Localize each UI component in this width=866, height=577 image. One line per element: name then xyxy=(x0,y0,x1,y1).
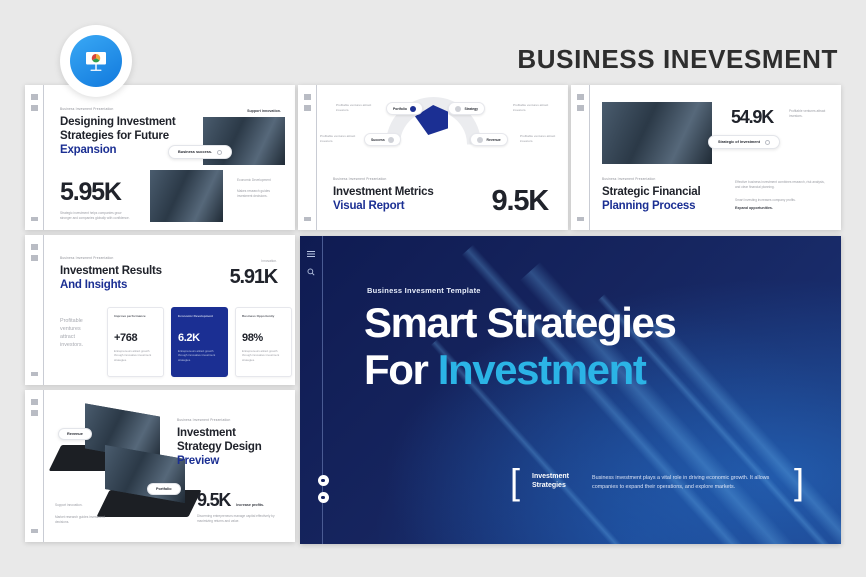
arc-node-strategy[interactable]: Strategy xyxy=(448,102,485,115)
stat-card-desc: Entrepreneurs attract growth through inn… xyxy=(178,349,221,362)
rail-icon-bottom xyxy=(31,217,38,221)
slide-eyebrow: Business Invesment Presentation xyxy=(333,177,434,181)
slide-title-highlight: Expansion xyxy=(60,143,176,157)
rail-icon-top xyxy=(577,94,584,100)
slide-side-desc: Makes research guides investment decisio… xyxy=(237,189,283,199)
stat-card-value: 6.2K xyxy=(178,332,221,344)
search-icon[interactable] xyxy=(307,268,315,278)
stat-card-desc: Entrepreneurs attract growth through inn… xyxy=(114,349,157,362)
slide-badge-strategic-investment[interactable]: Strategic of Investment xyxy=(708,135,780,149)
slide-left-rail xyxy=(25,235,44,385)
rail-icon-top xyxy=(31,399,38,405)
rail-icon-second xyxy=(31,255,38,261)
slide-thumbnail-4[interactable]: Business Invesment Presentation Investme… xyxy=(25,235,295,385)
arc-node-revenue[interactable]: Revenue xyxy=(470,133,508,146)
slide-left-rail xyxy=(25,390,44,542)
rail-icon-second xyxy=(31,410,38,416)
rail-icon-bottom xyxy=(31,529,38,533)
rail-icon-bottom xyxy=(577,217,584,221)
hero-title-accent: Investment xyxy=(438,346,646,393)
slide-stat-value: 5.91K xyxy=(230,266,277,289)
stat-card-label: Economic Development xyxy=(178,314,221,319)
badge-dot-icon xyxy=(217,150,222,155)
slide-stat-value: 5.95K xyxy=(60,178,132,207)
arc-node-label: Strategy xyxy=(465,107,479,111)
slide-eyebrow: Business Invesment Presentation xyxy=(602,177,700,181)
slide-title-line-1: Strategic Financial xyxy=(602,185,700,199)
slide-body-2: Smart investing increases company profit… xyxy=(735,198,827,203)
rail-icon-top xyxy=(31,94,38,100)
slide-title-line-1: Investment Metrics xyxy=(333,185,434,199)
slide-photo-boardroom xyxy=(602,102,712,164)
rail-icon-top xyxy=(31,244,38,250)
slide-photo-colleagues xyxy=(150,170,223,222)
slide-eyebrow: Business Invesment Presentation xyxy=(60,256,162,260)
slide-badge-revenue[interactable]: Revenue xyxy=(58,428,92,440)
arc-node-success[interactable]: Success xyxy=(364,133,401,146)
page-title: BUSINESS INEVESMENT xyxy=(517,44,838,75)
rail-icon-top xyxy=(304,94,311,100)
slide-stat-desc: Discerning entrepreneurs manage capital … xyxy=(197,514,283,524)
keynote-presentation-icon xyxy=(70,35,122,87)
bracket-close-icon: ] xyxy=(794,464,804,500)
slide-badge-label: Strategic of Investment xyxy=(718,140,760,144)
stat-card-value: 98% xyxy=(242,332,285,344)
slide-title-line-1: Investment Results xyxy=(60,264,162,278)
slide-left-text: Profitable ventures attract investors. xyxy=(60,317,96,349)
slide-title-highlight: Visual Report xyxy=(333,199,434,213)
slide-badge-portfolio[interactable]: Portfolio xyxy=(147,483,181,495)
slide-stat-desc: Profitable ventures attract investors. xyxy=(789,109,831,119)
slide-stat-value: 9.5K xyxy=(492,185,548,218)
rail-icon-bottom xyxy=(304,217,311,221)
slide-body-bold: Expand opportunities. xyxy=(735,206,827,210)
rail-icon-bottom xyxy=(31,372,38,376)
slide-left-rail xyxy=(25,85,44,230)
slide-footer-label: Support innovation. xyxy=(55,503,111,508)
arc-caption-1: Profitable ventures attract investors. xyxy=(336,103,378,113)
slide-eyebrow: Business Invesment Presentation xyxy=(60,107,176,111)
node-dot-icon xyxy=(410,106,416,112)
bracket-open-icon: [ xyxy=(510,464,520,500)
slide-badge-label: Revenue xyxy=(67,432,83,436)
slide-thumbnail-1[interactable]: Business Invesment Presentation Designin… xyxy=(25,85,295,230)
slide-stat-label: Innovation. xyxy=(230,259,277,264)
slide-badge-label: Portfolio xyxy=(156,487,172,491)
slide-title-highlight: Preview xyxy=(177,454,262,468)
stat-card-desc: Entrepreneurs attract growth through inn… xyxy=(242,349,285,362)
arc-diagram xyxy=(358,97,508,159)
badge-dot-icon xyxy=(765,140,770,145)
slide-title-line-1: Designing Investment xyxy=(60,115,176,129)
app-logo-badge xyxy=(60,25,132,97)
node-dot-icon xyxy=(477,137,483,143)
slide-left-rail xyxy=(571,85,590,230)
arc-caption-3: Profitable ventures attract investors. xyxy=(320,134,362,144)
stat-card-3[interactable]: Business Opportunity 98% Entrepreneurs a… xyxy=(235,307,292,377)
slide-title-highlight: Planning Process xyxy=(602,199,700,213)
rail-icon-second xyxy=(577,105,584,111)
hero-eyebrow: Business Invesment Template xyxy=(367,286,481,295)
hero-body-text: Business investment plays a vital role i… xyxy=(592,474,794,492)
hero-title-line-2: For Investment xyxy=(364,346,804,393)
hero-kicker-line-2: Strategies xyxy=(532,481,580,490)
slide-left-rail xyxy=(298,85,317,230)
hamburger-menu-icon[interactable] xyxy=(307,250,315,260)
stat-card-label: Improve performance xyxy=(114,314,157,319)
slide-stat-value: 9.5K xyxy=(197,490,230,511)
arc-caption-4: Profitable ventures attract investors. xyxy=(520,134,562,144)
hero-title: Smart Strategies For Investment xyxy=(364,299,804,393)
stat-card-label: Business Opportunity xyxy=(242,314,285,319)
hero-kicker: Investment Strategies xyxy=(532,472,580,491)
slide-title-highlight: And Insights xyxy=(60,278,162,292)
hero-nav-dot-1[interactable] xyxy=(318,475,329,486)
slide-thumbnail-3[interactable]: 54.9K Profitable ventures attract invest… xyxy=(571,85,841,230)
slide-body-1: Effective business investment combines r… xyxy=(735,180,827,190)
hero-kicker-line-1: Investment xyxy=(532,472,580,481)
slide-title-line-1: Investment xyxy=(177,426,262,440)
node-dot-icon xyxy=(455,106,461,112)
arc-node-label: Success xyxy=(371,138,385,142)
stat-card-value: +768 xyxy=(114,332,157,344)
slide-badge-business-success[interactable]: Business success. xyxy=(168,145,232,159)
slide-footer-desc: Market research guides investment decisi… xyxy=(55,515,111,525)
slide-title-line-2: Strategy Design xyxy=(177,440,262,454)
stat-card-1[interactable]: Improve performance +768 Entrepreneurs a… xyxy=(107,307,164,377)
slide-thumbnail-2[interactable]: Portfolio Strategy Success Revenue Profi… xyxy=(298,85,568,230)
arc-node-portfolio[interactable]: Portfolio xyxy=(386,102,423,115)
stat-card-2[interactable]: Economic Development 6.2K Entrepreneurs … xyxy=(171,307,228,377)
hero-title-line-1: Smart Strategies xyxy=(364,299,804,346)
rail-icon-second xyxy=(31,105,38,111)
rail-icon-second xyxy=(304,105,311,111)
slide-title-line-2: Strategies for Future xyxy=(60,129,176,143)
slide-eyebrow: Business Invesment Presentation xyxy=(177,418,262,422)
arc-node-label: Portfolio xyxy=(393,107,407,111)
arc-caption-2: Profitable ventures attract investors. xyxy=(513,103,555,113)
presentation-template-preview: BUSINESS INEVESMENT Business Invesment xyxy=(0,0,866,577)
slide-badge-label: Business success. xyxy=(178,150,212,154)
slide-top-label: Support innovation. xyxy=(247,109,281,113)
slide-stat-desc: Strategic investment helps companies gro… xyxy=(60,211,132,221)
hero-nav-dot-2[interactable] xyxy=(318,492,329,503)
hero-title-plain: For xyxy=(364,346,438,393)
node-dot-icon xyxy=(388,137,394,143)
slide-thumbnail-5[interactable]: Revenue Portfolio Business Invesment Pre… xyxy=(25,390,295,542)
arc-node-label: Revenue xyxy=(487,138,501,142)
slide-stat-label: Increase profits. xyxy=(236,503,266,508)
slide-side-label: Economic Development xyxy=(237,178,283,183)
hero-slide[interactable]: Business Invesment Template Smart Strate… xyxy=(300,236,841,544)
slide-stat-value: 54.9K xyxy=(731,107,773,128)
